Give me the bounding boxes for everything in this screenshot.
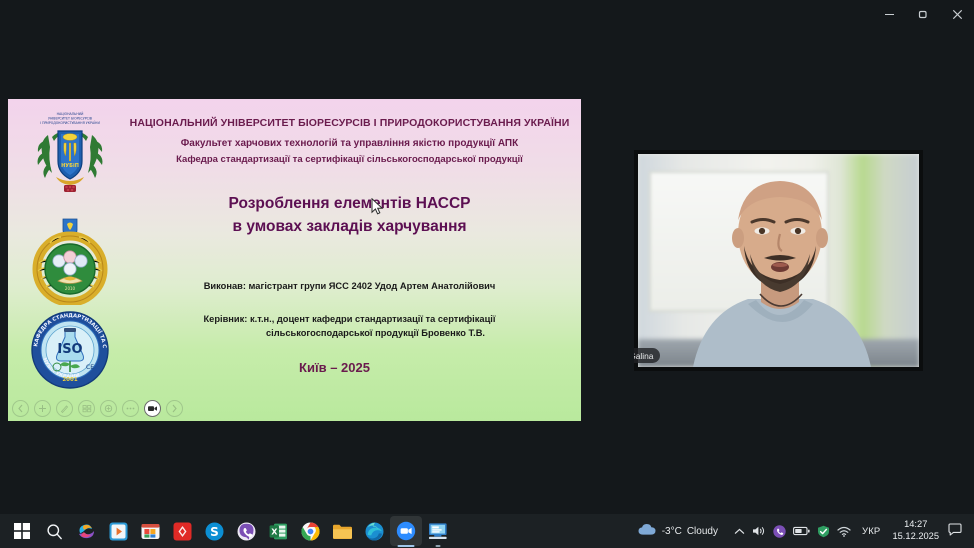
iso-certification-emblem-icon: КАФЕДРА СТАНДАРТИЗАЦІЇ ТА СЕРТИФІКАЦІЇ С… (30, 309, 110, 391)
slide-control-strip (12, 400, 183, 417)
media-player-icon[interactable] (102, 516, 134, 546)
shared-slide[interactable]: НАЦІОНАЛЬНИЙ УНІВЕРСИТЕТ БІОРЕСУРСІВ І П… (8, 99, 581, 421)
svg-text:ISO: ISO (57, 342, 82, 357)
zoom-tool-button[interactable] (100, 400, 117, 417)
skype-icon[interactable]: S (198, 516, 230, 546)
svg-text:S: S (210, 524, 219, 538)
svg-text:І ПРИРОДОКОРИСТУВАННЯ УКРАЇНИ: І ПРИРОДОКОРИСТУВАННЯ УКРАЇНИ (40, 120, 100, 125)
show-hidden-icons-button[interactable] (734, 527, 745, 536)
speaker-icon[interactable] (752, 525, 766, 537)
slide-supervisor-line2: сільськогосподарської продукції Бровенко… (118, 327, 581, 340)
excel-icon[interactable]: X (262, 516, 294, 546)
slide-supervisor: Керівник: к.т.н., доцент кафедри стандар… (118, 293, 581, 340)
slide-title-line2: в умовах закладів харчування (118, 216, 581, 238)
svg-text:НАЦІОНАЛЬНИЙ: НАЦІОНАЛЬНИЙ (57, 111, 84, 116)
desktop-screen: НАЦІОНАЛЬНИЙ УНІВЕРСИТЕТ БІОРЕСУРСІВ І П… (0, 0, 974, 548)
viber-tray-icon[interactable] (773, 525, 786, 538)
clock-date: 15.12.2025 (892, 531, 939, 543)
slide-title-line1: Розроблення елементів НАССР (118, 193, 581, 215)
slide-grid-button[interactable] (78, 400, 95, 417)
svg-text:2001: 2001 (62, 377, 77, 383)
microsoft-store-icon[interactable] (134, 516, 166, 546)
pointer-tool-button[interactable] (34, 400, 51, 417)
participant-name-label: Tolok Galina (634, 351, 653, 361)
svg-text:2010: 2010 (65, 286, 76, 291)
nubip-coat-of-arms-icon: НАЦІОНАЛЬНИЙ УНІВЕРСИТЕТ БІОРЕСУРСІВ І П… (30, 107, 110, 199)
more-options-button[interactable] (122, 400, 139, 417)
cloud-icon (638, 523, 657, 539)
slide-header-line2: Факультет харчових технологій та управлі… (118, 130, 581, 151)
viber-icon[interactable] (230, 516, 262, 546)
pen-tool-button[interactable] (56, 400, 73, 417)
weather-widget[interactable]: -3°C Cloudy (632, 520, 726, 542)
wifi-icon[interactable] (837, 526, 851, 537)
slide-main-title: Розроблення елементів НАССР в умовах зак… (118, 166, 581, 238)
slide-author: Виконав: магістрант групи ЯСС 2402 Удод … (118, 238, 581, 293)
chrome-icon[interactable] (294, 516, 326, 546)
minimize-button[interactable] (872, 0, 906, 28)
language-indicator[interactable]: УКР (857, 526, 886, 537)
svg-text:УНІВЕРСИТЕТ БІОРЕСУРСІВ: УНІВЕРСИТЕТ БІОРЕСУРСІВ (48, 117, 92, 121)
windows-taskbar: S X (0, 514, 974, 548)
svg-text:CE: CE (86, 364, 94, 371)
battery-icon[interactable] (793, 526, 810, 536)
slide-city-year: Київ – 2025 (118, 340, 581, 375)
next-slide-button[interactable] (166, 400, 183, 417)
camera-tool-button[interactable] (144, 400, 161, 417)
file-explorer-icon[interactable] (326, 516, 358, 546)
powerpoint-icon[interactable] (422, 516, 454, 546)
prev-slide-button[interactable] (12, 400, 29, 417)
svg-text:X: X (271, 527, 278, 536)
close-button[interactable] (940, 0, 974, 28)
window-controls (872, 0, 974, 28)
system-tray (726, 525, 857, 538)
zoom-icon[interactable] (390, 516, 422, 546)
edge-icon[interactable] (358, 516, 390, 546)
faculty-gold-wreath-emblem-icon: НУБіП (30, 217, 110, 305)
notifications-button[interactable] (946, 523, 968, 539)
start-button[interactable] (6, 516, 38, 546)
clock-widget[interactable]: 14:27 15.12.2025 (885, 519, 946, 542)
slide-supervisor-line1: Керівник: к.т.н., доцент кафедри стандар… (118, 313, 581, 326)
taskbar-app-list: S X (0, 516, 454, 546)
slide-header-line3: Кафедра стандартизації та сертифікації с… (118, 151, 581, 166)
participant-video-tile[interactable]: Tolok Galina (634, 150, 923, 371)
search-icon[interactable] (38, 516, 70, 546)
pdf-reader-icon[interactable] (166, 516, 198, 546)
slide-header-line1: НАЦІОНАЛЬНИЙ УНІВЕРСИТЕТ БІОРЕСУРСІВ І П… (118, 99, 581, 130)
copilot-icon[interactable] (70, 516, 102, 546)
weather-condition: Cloudy (687, 526, 718, 537)
restore-button[interactable] (906, 0, 940, 28)
video-feed (638, 154, 919, 367)
taskbar-right-zone: -3°C Cloudy (632, 519, 974, 542)
participant-person (638, 154, 919, 367)
svg-text:НУБіП: НУБіП (61, 163, 79, 169)
weather-temperature: -3°C (662, 526, 682, 537)
clock-time: 14:27 (904, 519, 927, 531)
shield-icon[interactable] (817, 525, 830, 538)
participant-name-badge: Tolok Galina (634, 348, 660, 363)
slide-text-block: НАЦІОНАЛЬНИЙ УНІВЕРСИТЕТ БІОРЕСУРСІВ І П… (118, 99, 581, 421)
